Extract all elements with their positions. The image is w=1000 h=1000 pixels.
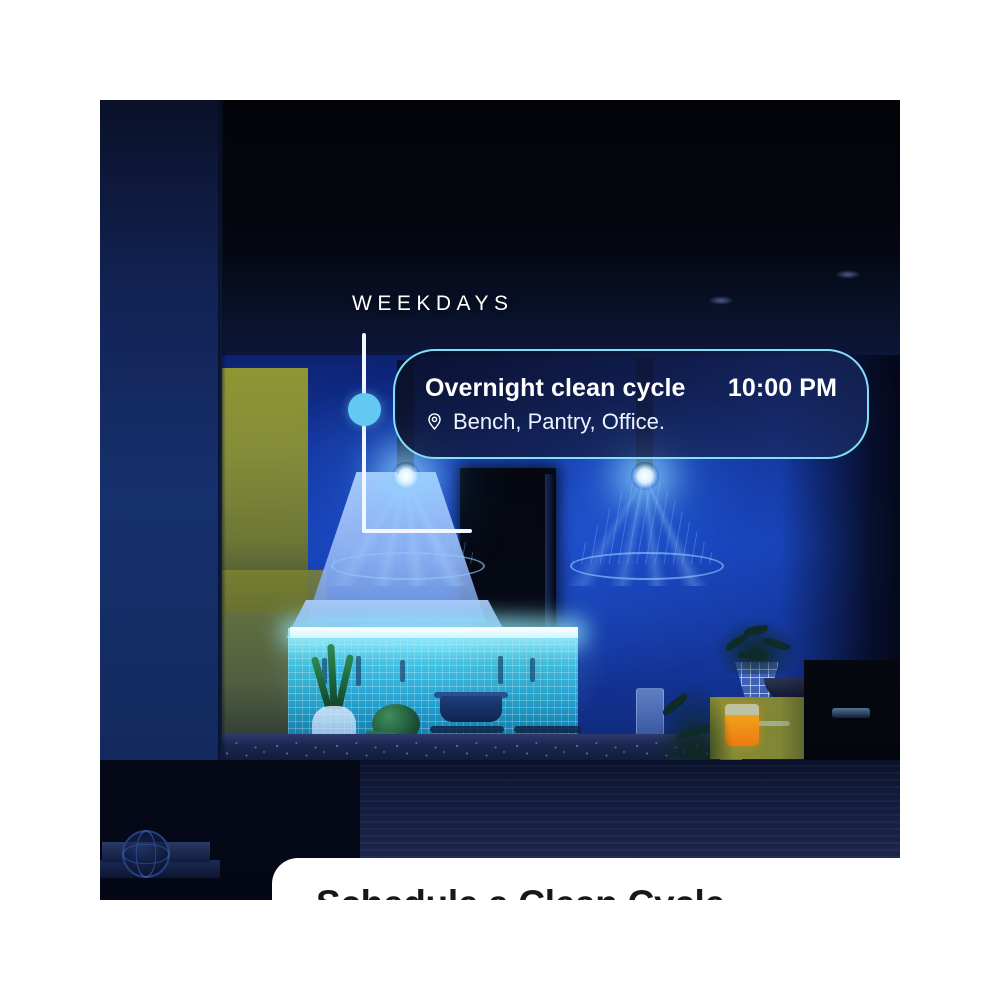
plant-leaf <box>660 692 690 716</box>
schedule-card[interactable]: Overnight clean cycle 10:00 PM Bench, Pa… <box>393 349 869 459</box>
cooking-pot <box>440 696 502 722</box>
lamp-bulb <box>392 462 420 490</box>
product-lifestyle-photo: WEEKDAYS Overnight clean cycle 10:00 PM … <box>100 100 900 900</box>
utensil-icon <box>530 658 535 682</box>
utensil-icon <box>356 656 361 686</box>
schedule-time: 10:00 PM <box>728 374 837 403</box>
location-pin-icon <box>425 412 444 431</box>
stove-burner <box>430 726 504 733</box>
pineapple-blade <box>335 654 354 710</box>
ceiling-spot-icon <box>708 296 734 305</box>
pillar-edge-shadow <box>218 100 226 760</box>
stove-burner <box>514 726 582 733</box>
plant-leaf <box>738 650 769 662</box>
connector-line-vertical <box>362 333 366 533</box>
schedule-card-locations: Bench, Pantry, Office. <box>425 409 837 435</box>
decorative-sphere-band <box>122 844 170 864</box>
caption-title: Schedule a Clean Cycle <box>316 884 884 900</box>
schedule-title: Overnight clean cycle <box>425 374 686 403</box>
page-root: WEEKDAYS Overnight clean cycle 10:00 PM … <box>0 0 1000 1000</box>
caption-card: Schedule a Clean Cycle Use Clean Cycles … <box>272 858 900 900</box>
schedule-locations-text: Bench, Pantry, Office. <box>453 409 665 435</box>
timeline-dot <box>348 393 381 426</box>
utensil-icon <box>498 656 503 684</box>
utensil-icon <box>400 660 405 682</box>
lamp-bulb <box>631 462 659 490</box>
under-cabinet-light-strip <box>290 627 578 638</box>
weekdays-section-label: WEEKDAYS <box>352 292 513 316</box>
plant-leaf <box>675 725 710 741</box>
lamp-ring <box>570 552 724 580</box>
ceiling-spot-icon <box>835 270 861 279</box>
closet-light <box>832 708 870 718</box>
schedule-card-header: Overnight clean cycle 10:00 PM <box>425 374 837 403</box>
pineapple-leaves <box>316 640 354 712</box>
plant-leaf <box>744 625 769 636</box>
foreground-wall-pillar <box>100 100 222 760</box>
lamp-ring <box>331 552 485 580</box>
connector-line-horizontal <box>362 529 472 533</box>
